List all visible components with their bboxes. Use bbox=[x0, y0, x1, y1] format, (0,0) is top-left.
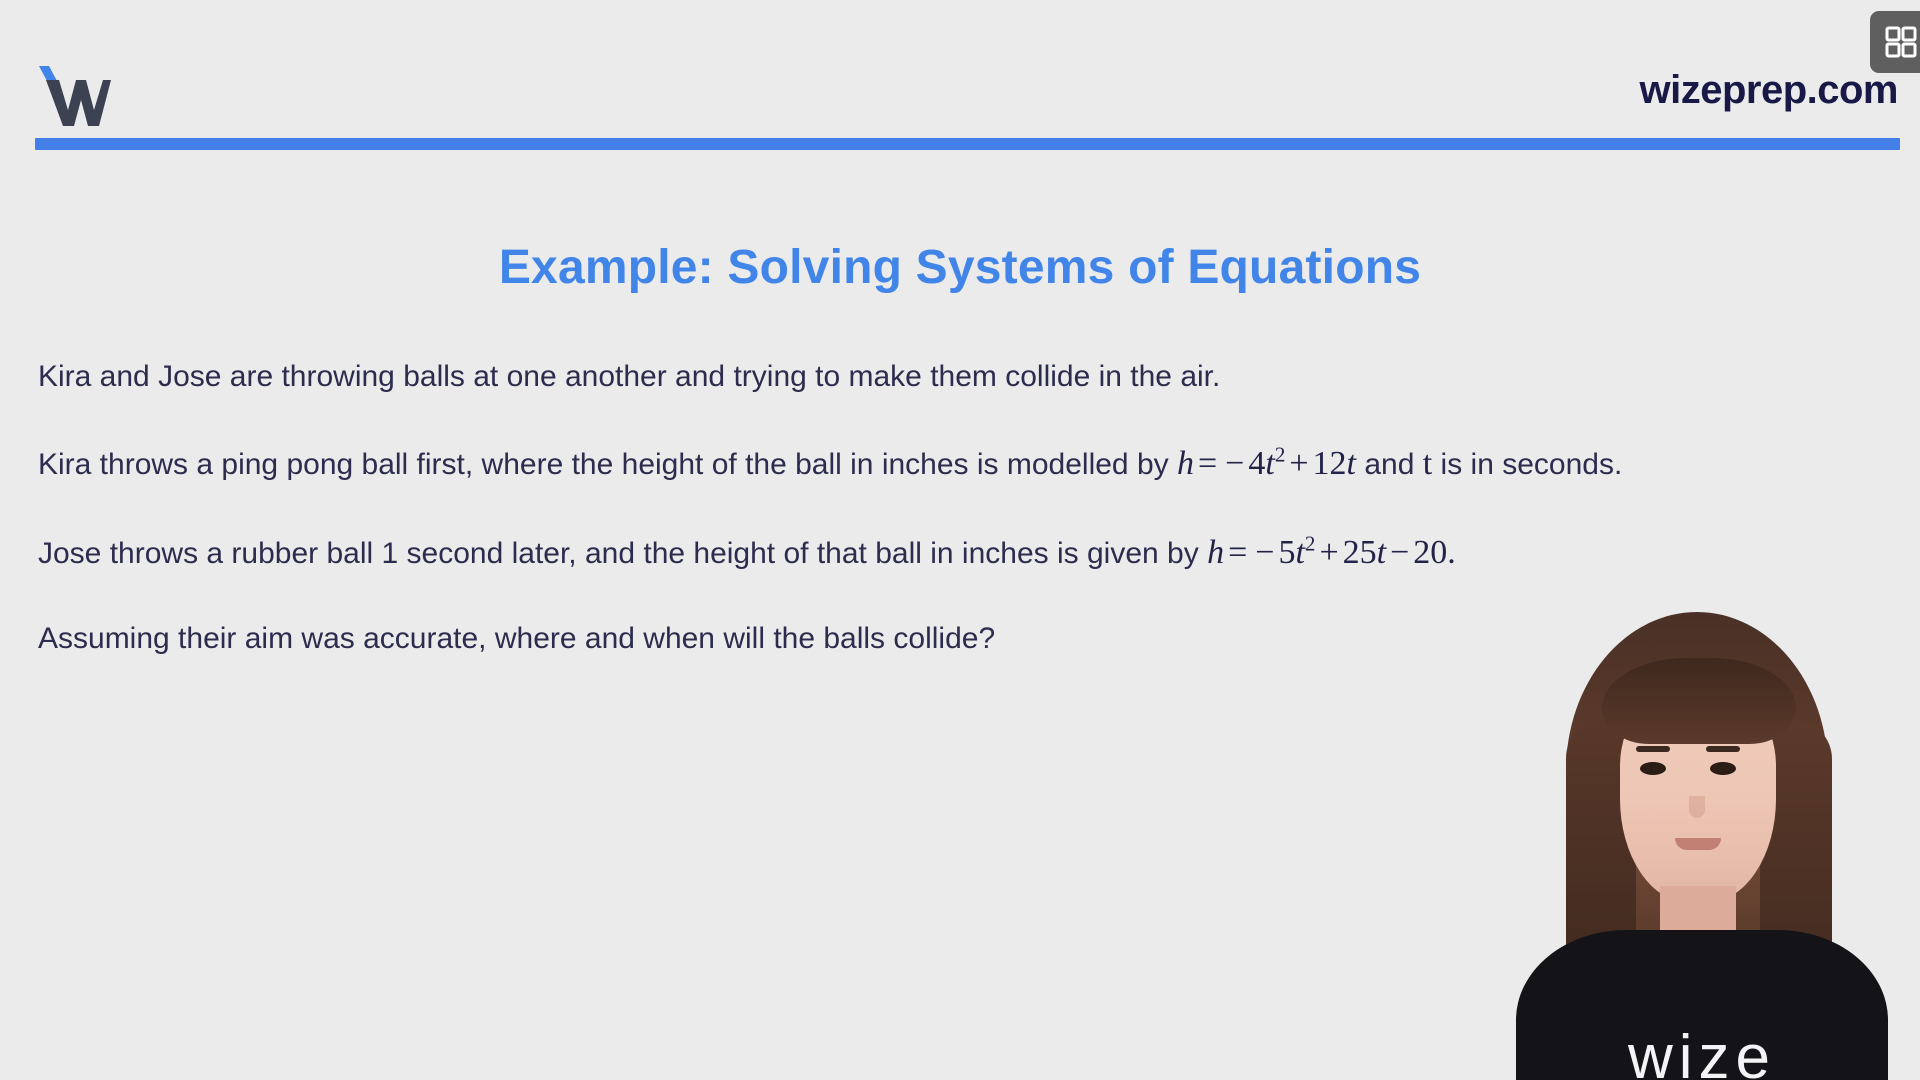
paragraph-question-text: Assuming their aim was accurate, where a… bbox=[38, 622, 995, 655]
kira-eq-lhs: h bbox=[1177, 445, 1194, 482]
page-title: Example: Solving Systems of Equations bbox=[0, 240, 1920, 295]
jose-eq-term2-sign: + bbox=[1315, 534, 1342, 571]
header-divider-rule bbox=[35, 138, 1900, 150]
presenter-mouth bbox=[1675, 838, 1721, 850]
jose-eq-term1-sign: − bbox=[1251, 534, 1278, 571]
kira-inline-variable: t bbox=[1423, 445, 1432, 482]
kira-eq-term1-sign: − bbox=[1221, 445, 1248, 482]
lesson-slide: wizeprep.com Example: Solving Systems of… bbox=[0, 0, 1920, 1080]
jose-eq-term1-variable: t bbox=[1295, 534, 1304, 571]
kira-text-after: and bbox=[1356, 448, 1423, 481]
presenter-eye-left bbox=[1640, 762, 1666, 775]
kira-eq-equals: = bbox=[1194, 445, 1221, 482]
kira-text-before: Kira throws a ping pong ball first, wher… bbox=[38, 448, 1177, 481]
presenter-hair bbox=[1566, 612, 1828, 972]
presenter-neck bbox=[1660, 886, 1736, 948]
kira-eq-term2-variable: t bbox=[1347, 445, 1356, 482]
kira-eq-term2-coefficient: 12 bbox=[1313, 445, 1347, 482]
presenter-shirt-logo-text: wize bbox=[1516, 1022, 1888, 1080]
jose-eq-lhs: h bbox=[1207, 534, 1224, 571]
jose-eq-term2-coefficient: 25 bbox=[1343, 534, 1377, 571]
kira-eq-term1-exponent: 2 bbox=[1275, 442, 1286, 466]
presenter-video-overlay: wize bbox=[1470, 600, 1920, 1080]
site-url-text: wizeprep.com bbox=[1639, 68, 1898, 113]
jose-eq-period: . bbox=[1447, 534, 1456, 571]
presenter-eyebrow-right bbox=[1706, 746, 1740, 752]
jose-eq-term1-exponent: 2 bbox=[1305, 531, 1316, 555]
presenter-figure: wize bbox=[1470, 600, 1920, 1080]
kira-text-tail: is in seconds. bbox=[1432, 448, 1622, 481]
jose-eq-term3-constant: 20 bbox=[1413, 534, 1447, 571]
presenter-eye-right bbox=[1710, 762, 1736, 775]
paragraph-jose-equation: Jose throws a rubber ball 1 second later… bbox=[38, 528, 1838, 577]
kira-eq-term1-coefficient: 4 bbox=[1248, 445, 1265, 482]
presenter-face bbox=[1620, 678, 1776, 903]
presenter-eyebrow-left bbox=[1636, 746, 1670, 752]
presenter-bangs bbox=[1602, 658, 1796, 744]
kira-eq-term2-sign: + bbox=[1285, 445, 1312, 482]
paragraph-intro-text: Kira and Jose are throwing balls at one … bbox=[38, 360, 1220, 393]
jose-equation-math: h=−5t2+25t−20. bbox=[1207, 534, 1456, 571]
slide-body: Kira and Jose are throwing balls at one … bbox=[38, 355, 1870, 661]
paragraph-intro: Kira and Jose are throwing balls at one … bbox=[38, 355, 1838, 399]
kira-eq-term1-variable: t bbox=[1265, 445, 1274, 482]
jose-eq-equals: = bbox=[1224, 534, 1251, 571]
presenter-shirt: wize bbox=[1516, 930, 1888, 1080]
jose-eq-term2-variable: t bbox=[1377, 534, 1386, 571]
jose-eq-term1-coefficient: 5 bbox=[1278, 534, 1295, 571]
presenter-hair-left bbox=[1566, 720, 1636, 1000]
paragraph-kira-equation: Kira throws a ping pong ball first, wher… bbox=[38, 439, 1838, 488]
grid-menu-button[interactable] bbox=[1870, 11, 1920, 73]
slide-header: wizeprep.com bbox=[0, 0, 1920, 150]
wizeprep-logo-icon bbox=[37, 58, 111, 128]
grid-icon bbox=[1884, 25, 1918, 59]
jose-eq-term3-sign: − bbox=[1386, 534, 1413, 571]
kira-equation-math: h=−4t2+12t bbox=[1177, 445, 1356, 482]
presenter-hair-right bbox=[1760, 720, 1832, 1010]
jose-text-before: Jose throws a rubber ball 1 second later… bbox=[38, 537, 1207, 570]
presenter-nose bbox=[1689, 796, 1705, 818]
paragraph-question: Assuming their aim was accurate, where a… bbox=[38, 617, 1838, 661]
